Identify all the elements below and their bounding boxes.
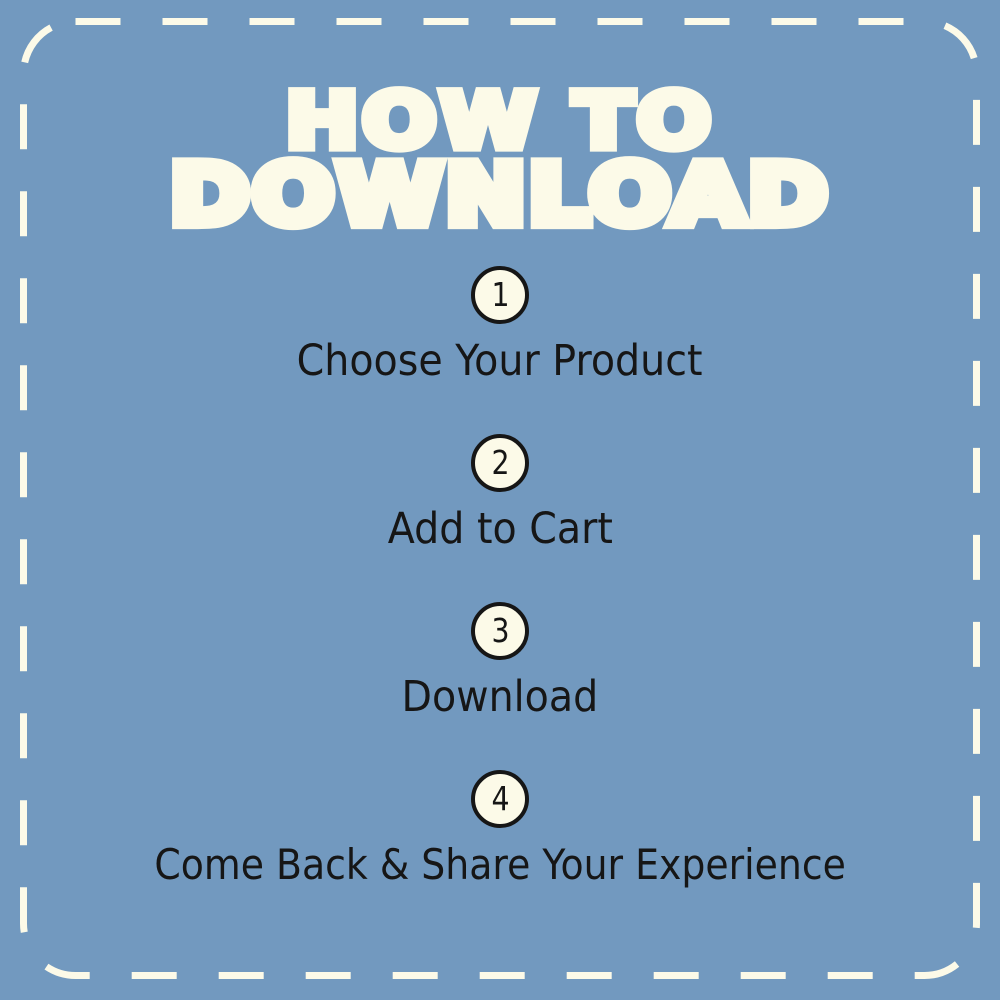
step-label-text: Download: [402, 674, 599, 721]
step-label-text: Add to Cart: [387, 506, 612, 553]
step-number-badge-1: 1: [471, 266, 529, 324]
page-title: HOW TO DOWNLOAD: [0, 84, 1000, 224]
step-label-text: Come Back & Share Your Experience: [154, 842, 845, 888]
list-item: 3 Download: [0, 602, 1000, 770]
step-label-text: Choose Your Product: [297, 338, 703, 385]
step-number-label: 4: [491, 782, 509, 815]
step-number-badge-3: 3: [471, 602, 529, 660]
step-text-2: Add to Cart: [0, 506, 1000, 553]
how-to-download-poster: HOW TO DOWNLOAD 1 Choose Your Product 2 …: [0, 0, 1000, 1000]
step-number-label: 2: [491, 446, 509, 479]
list-item: 1 Choose Your Product: [0, 266, 1000, 434]
step-text-1: Choose Your Product: [0, 338, 1000, 385]
step-number-badge-4: 4: [471, 770, 529, 828]
title-line-how-to: HOW TO: [0, 84, 1000, 147]
step-number-label: 1: [491, 278, 509, 311]
step-text-4: Come Back & Share Your Experience: [0, 842, 1000, 888]
step-text-3: Download: [0, 674, 1000, 721]
list-item: 2 Add to Cart: [0, 434, 1000, 602]
step-number-label: 3: [491, 614, 509, 647]
step-number-badge-2: 2: [471, 434, 529, 492]
steps-list: 1 Choose Your Product 2 Add to Cart 3 Do…: [0, 266, 1000, 938]
title-line-download: DOWNLOAD: [0, 154, 1000, 232]
list-item: 4 Come Back & Share Your Experience: [0, 770, 1000, 938]
